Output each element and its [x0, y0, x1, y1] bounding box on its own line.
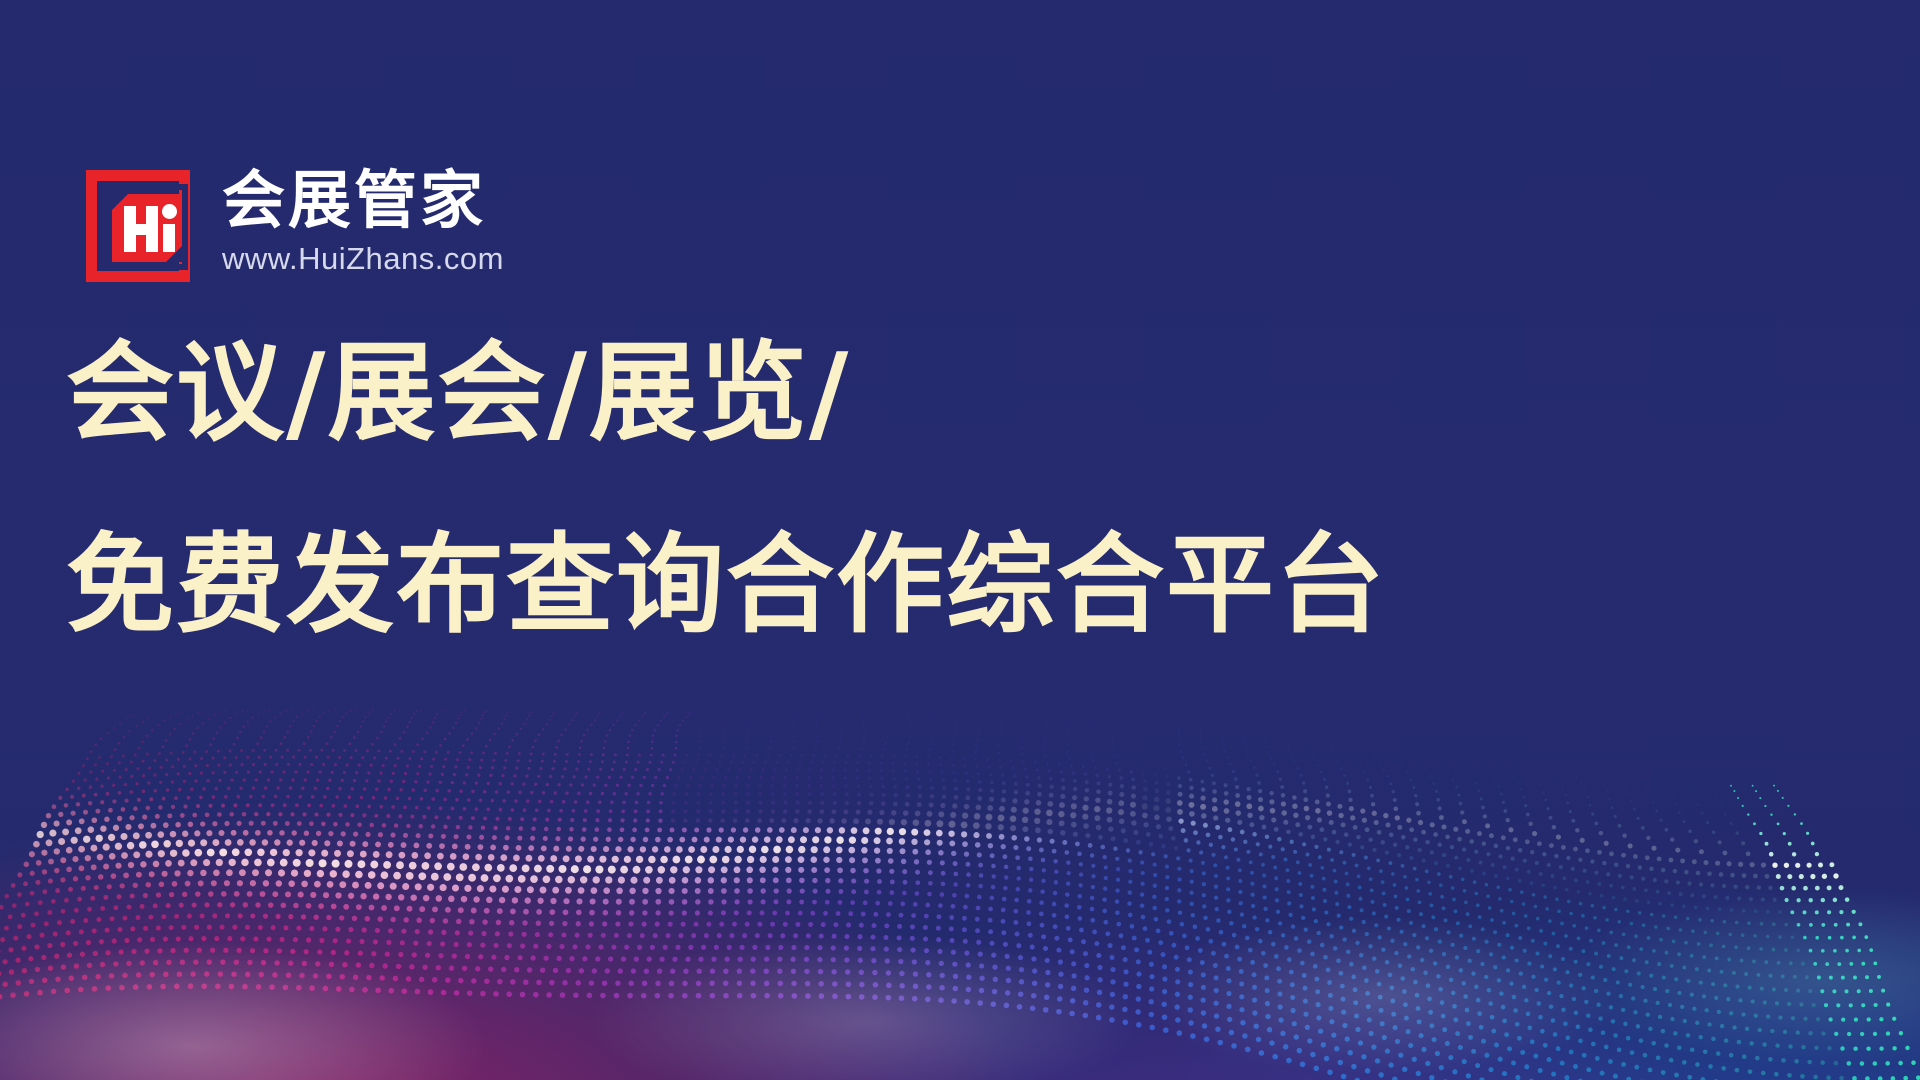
- headline-line-1: 会议/展会/展览/: [66, 340, 1866, 448]
- brand-website-url[interactable]: www.HuiZhans.com: [222, 243, 504, 274]
- logo-letter-i-dot: [162, 204, 177, 219]
- banner-canvas: 会展管家 www.HuiZhans.com 会议/展会/展览/ 免费发布查询合作…: [0, 0, 1920, 1080]
- brand-name: 会展管家: [222, 170, 504, 233]
- brand-text-block: 会展管家 www.HuiZhans.com: [222, 168, 504, 274]
- hi-monogram-icon: [84, 168, 196, 286]
- logo-letter-i-stem: [163, 224, 175, 252]
- logo-letter-h-crossbar: [124, 224, 158, 235]
- brand-logo[interactable]: 会展管家 www.HuiZhans.com: [84, 168, 504, 286]
- headline-line-2: 免费发布查询合作综合平台: [66, 532, 1866, 640]
- headline-block: 会议/展会/展览/ 免费发布查询合作综合平台: [66, 340, 1866, 640]
